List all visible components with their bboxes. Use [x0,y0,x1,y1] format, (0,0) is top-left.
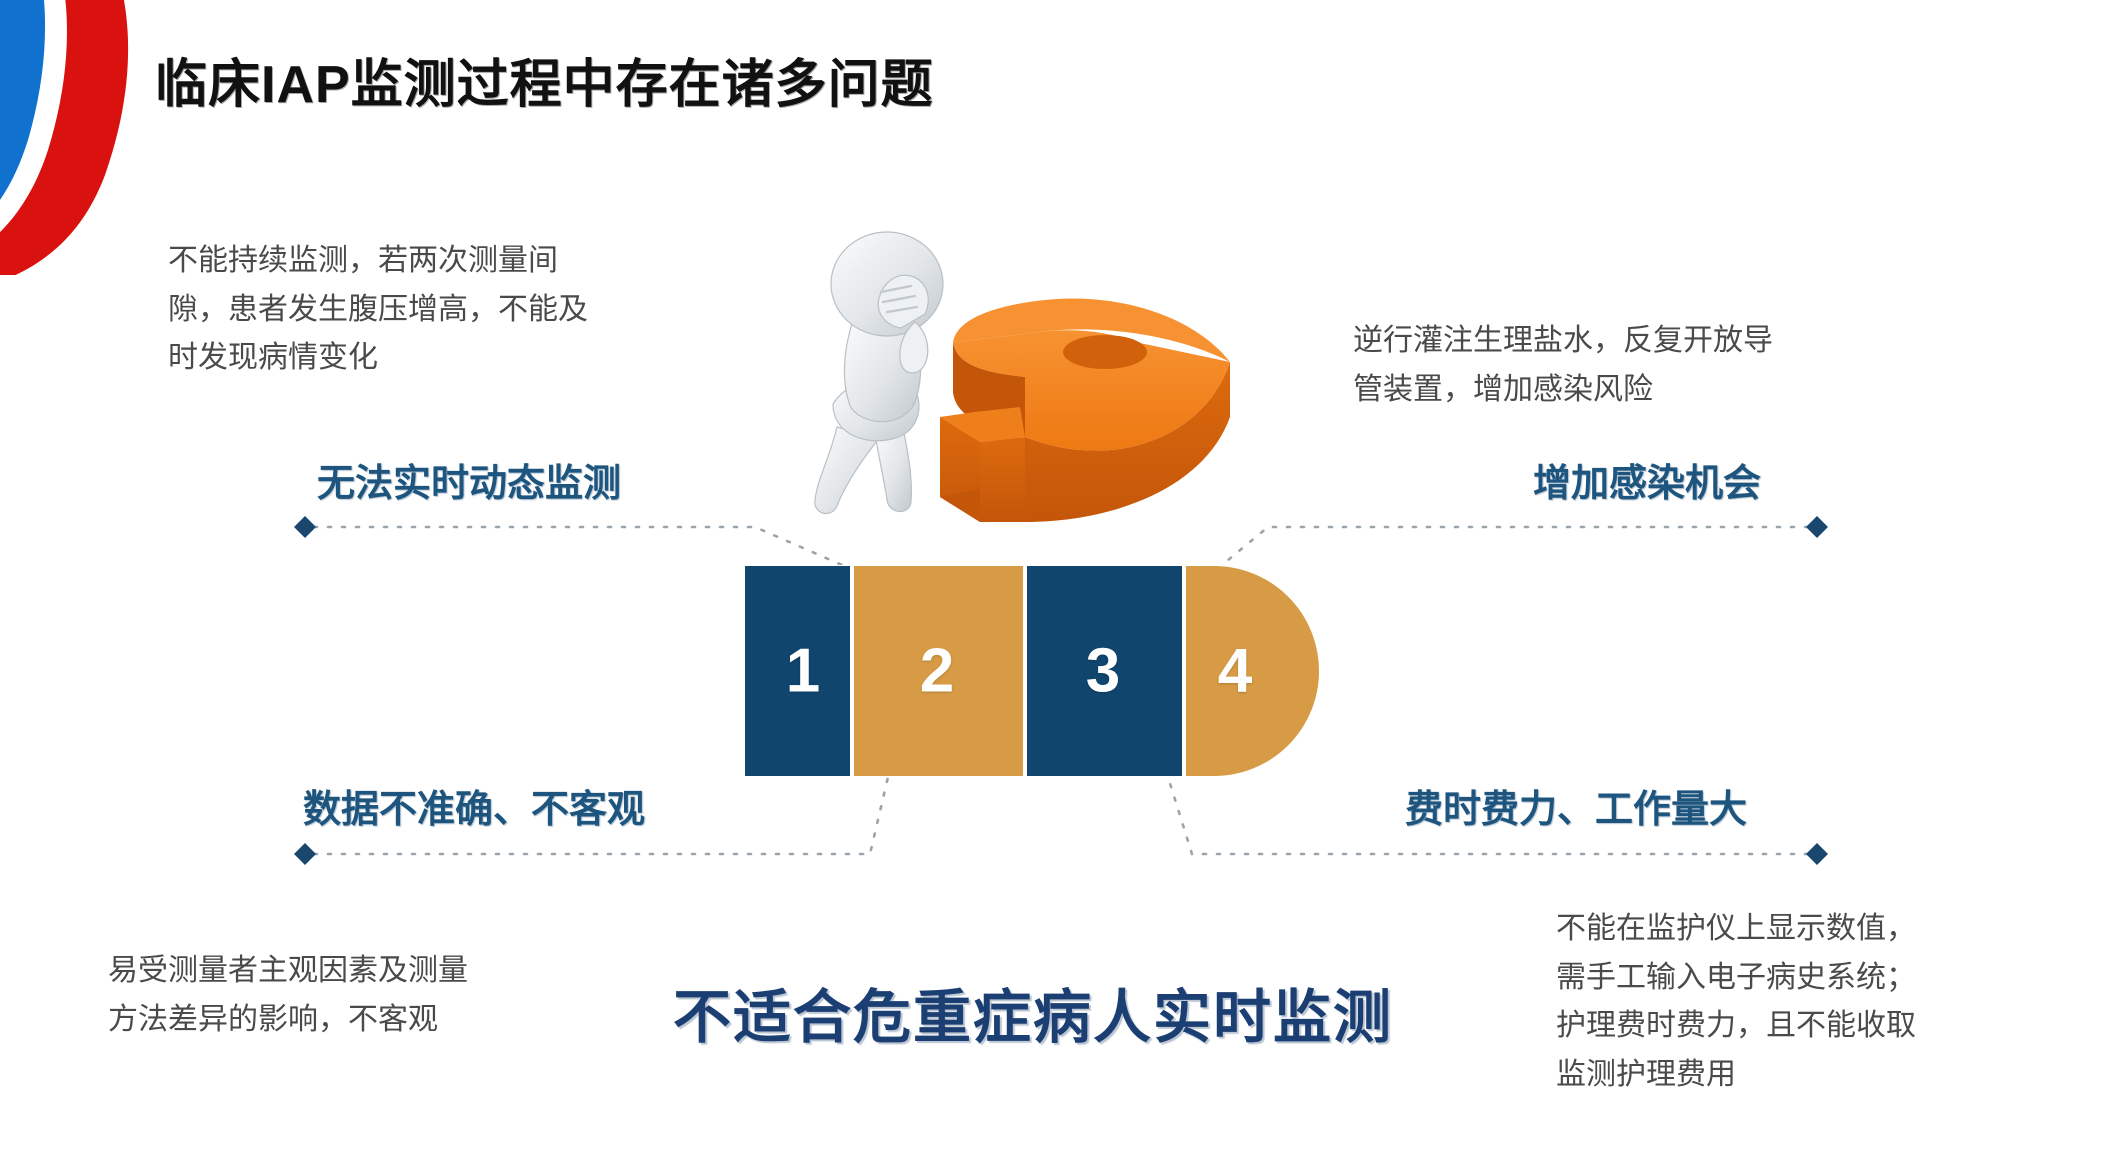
swoosh-red-shape [0,0,128,275]
note-text-bottom-right: 不能在监护仪上显示数值， 需手工输入电子病史系统； 护理费时费力，且不能收取 监… [1556,905,2006,1099]
page-title: 临床IAP监测过程中存在诸多问题 [155,42,934,117]
diamond-marker-top-right [1806,516,1828,538]
sub-heading-top-left: 无法实时动态监测 [317,452,621,507]
capsule-number-4: 4 [1218,636,1252,707]
capsule-segment-4[interactable] [1185,565,1320,777]
swoosh-blue-shape [0,0,45,275]
connector-top-left [300,527,842,565]
sub-heading-bottom-right: 费时费力、工作量大 [1405,778,1747,833]
thinking-person-on-question-mark-illustration [775,222,1275,532]
connector-top-right [1222,527,1822,565]
sub-heading-top-right: 增加感染机会 [1533,452,1761,507]
note-text-bottom-left: 易受测量者主观因素及测量 方法差异的影响，不客观 [108,947,578,1044]
diamond-marker-bottom-left [294,843,316,865]
capsule-number-3: 3 [1086,636,1120,707]
figure-person [815,232,943,514]
swoosh-white-gap [0,0,67,275]
four-segment-capsule: 1 2 3 4 [745,565,1320,777]
note-text-top-right: 逆行灌注生理盐水，反复开放导 管装置，增加感染风险 [1353,317,1893,414]
capsule-number-2: 2 [920,636,954,707]
diamond-marker-top-left [294,516,316,538]
slide-canvas: 临床IAP监测过程中存在诸多问题 [0,0,2122,1175]
question-mark-shape [940,299,1230,522]
sub-heading-bottom-left: 数据不准确、不客观 [303,778,645,833]
capsule-number-1: 1 [786,636,820,707]
diamond-marker-bottom-right [1806,843,1828,865]
conclusion-statement: 不适合危重症病人实时监测 [673,970,1393,1054]
note-text-top-left: 不能持续监测，若两次测量间 隙，患者发生腹压增高，不能及 时发现病情变化 [168,237,688,383]
